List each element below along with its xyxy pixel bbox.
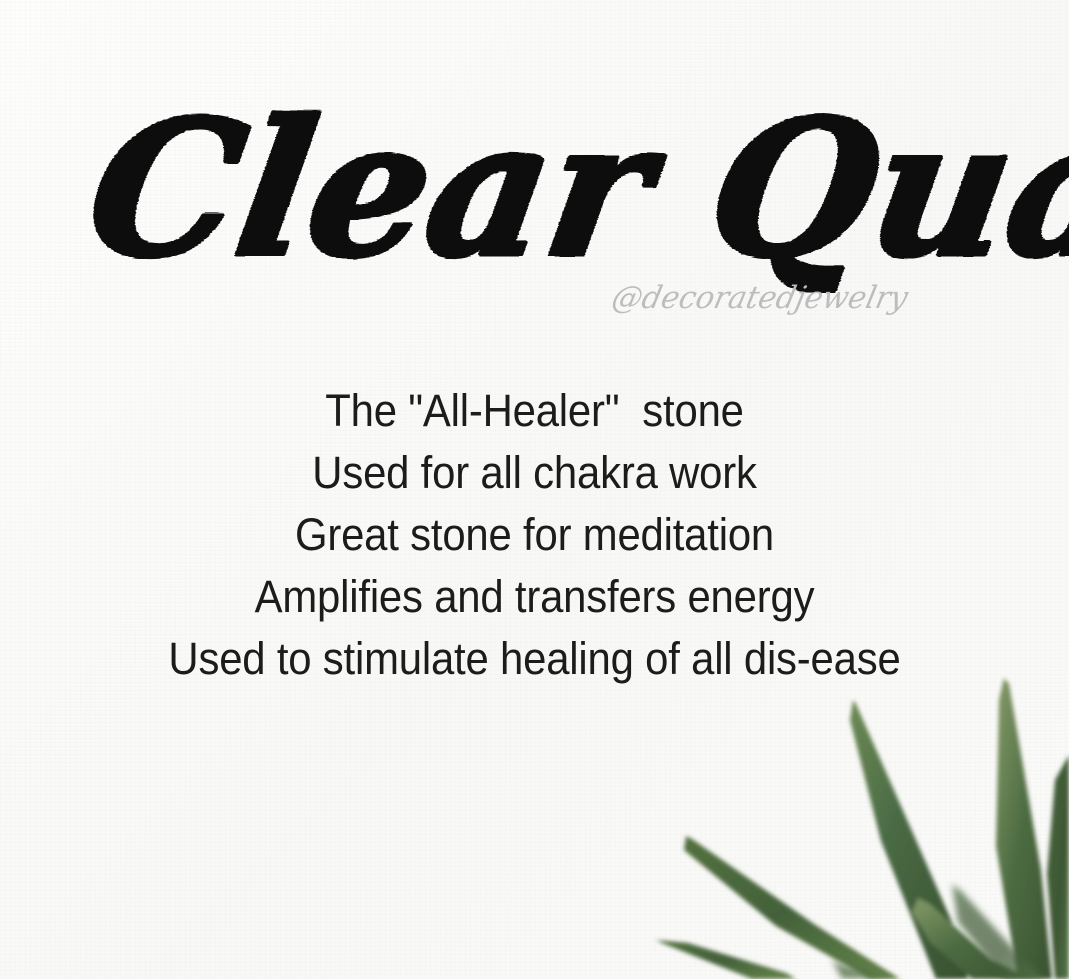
body-copy: The "All-Healer" stone Used for all chak…	[0, 380, 1069, 690]
palm-leaf-artwork	[600, 660, 1069, 979]
palm-leaf-blade	[952, 884, 1044, 979]
poster-canvas: Clear Quartz @decoratedjewelry The "All-…	[0, 0, 1069, 979]
watermark: @decoratedjewelry	[610, 276, 850, 320]
title-artwork: Clear Quartz	[0, 82, 1069, 302]
palm-leaf-decoration	[600, 660, 1069, 979]
palm-leaf-blade	[656, 940, 796, 979]
body-line: Great stone for meditation	[37, 504, 1031, 566]
watermark-artwork: @decoratedjewelry	[610, 276, 850, 320]
title-text: Clear Quartz	[76, 80, 1069, 299]
body-line: Used for all chakra work	[37, 442, 1031, 504]
body-line: The "All-Healer" stone	[37, 380, 1031, 442]
body-line: Amplifies and transfers energy	[37, 566, 1031, 628]
palm-leaf-blade	[850, 700, 968, 979]
palm-leaf-blade	[1047, 755, 1069, 979]
body-line: Used to stimulate healing of all dis-eas…	[37, 628, 1031, 690]
palm-leaf-blade	[912, 898, 1030, 979]
palm-leaf-blade	[996, 678, 1052, 979]
watermark-handle: @decoratedjewelry	[608, 280, 911, 316]
palm-leaf-blade	[832, 960, 896, 979]
palm-leaf-blade	[684, 836, 900, 979]
page-title: Clear Quartz	[0, 82, 1069, 302]
